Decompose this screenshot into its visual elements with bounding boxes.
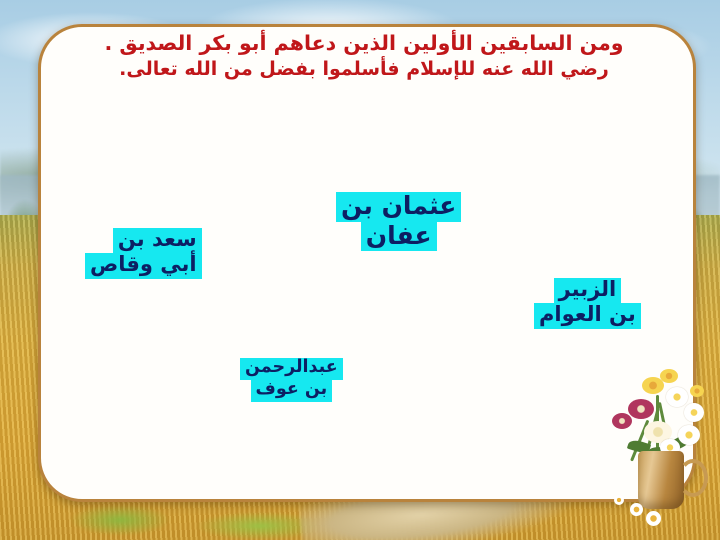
name-plate-zubayr-line-2: بن العوام [534,303,641,328]
flower-vase-decoration [600,355,720,540]
name-plate-uthman-line-2: عفان [361,222,437,252]
flower-yellow [660,369,678,383]
ground-daisy [630,503,643,516]
headline-line-1: ومن السابقين الأولين الذين دعاهم أبو بكر… [58,30,670,57]
headline-text: ومن السابقين الأولين الذين دعاهم أبو بكر… [58,30,670,81]
flower-yellow [690,385,704,397]
name-plate-abdulrahman-line-1: عبدالرحمن [240,358,343,380]
ground-daisy [614,495,624,505]
name-plate-uthman: عثمان بن عفان [336,192,461,251]
flower-pink [628,399,654,419]
name-plate-saad: سعد بن أبي وقاص [85,228,202,279]
name-plate-saad-line-1: سعد بن [113,228,202,253]
name-plate-zubayr: الزبير بن العوام [534,278,641,329]
slide-canvas: ومن السابقين الأولين الذين دعاهم أبو بكر… [0,0,720,540]
flower-pink [612,413,632,429]
name-plate-abdulrahman: عبدالرحمن بن عوف [240,358,343,402]
name-plate-saad-line-2: أبي وقاص [85,253,202,278]
ground-daisy [646,511,661,526]
flower-white [678,425,700,445]
name-plate-zubayr-line-1: الزبير [554,278,622,303]
flower-white [684,403,704,422]
name-plate-uthman-line-1: عثمان بن [336,192,461,222]
headline-line-2: رضي الله عنه للإسلام فأسلموا بفضل من الل… [58,57,670,82]
flower-white [666,387,688,407]
vase-handle [678,459,708,497]
name-plate-abdulrahman-line-2: بن عوف [251,380,333,402]
